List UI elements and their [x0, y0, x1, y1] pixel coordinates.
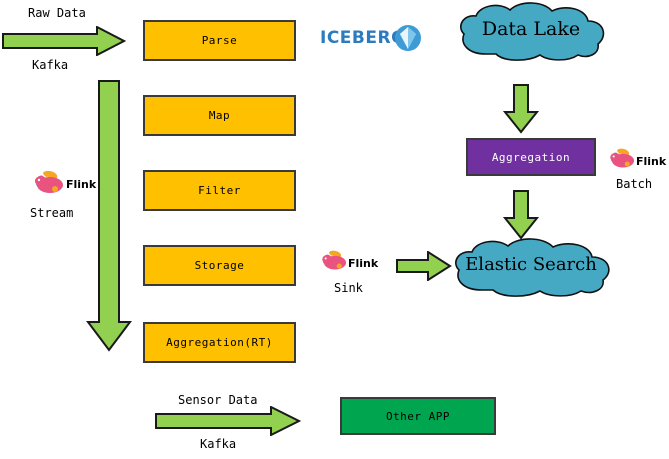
iceberg-wordmark: ICEBERG	[320, 28, 406, 48]
iceberg-globe-icon	[394, 24, 422, 52]
other-app-box[interactable]: Other APP	[340, 397, 496, 435]
flink-squirrel-icon	[30, 170, 70, 196]
process-box-aggregation-rt-label: Aggregation(RT)	[166, 336, 273, 349]
raw-data-kafka-arrow	[2, 26, 126, 56]
aggregation-box-label: Aggregation	[492, 151, 570, 164]
raw-data-label: Raw Data	[28, 6, 86, 20]
flink-stream-logo: Flink	[30, 170, 104, 196]
process-box-parse-label: Parse	[202, 34, 238, 47]
flink-squirrel-icon	[318, 248, 352, 274]
flink-squirrel-icon	[606, 146, 640, 172]
flink-sink-logo: Flink	[318, 248, 382, 274]
aggregation-box[interactable]: Aggregation	[466, 138, 596, 176]
process-box-map[interactable]: Map	[143, 95, 296, 136]
datalake-to-aggregation-arrow	[503, 84, 539, 134]
data-lake-cloud[interactable]: Data Lake	[452, 2, 610, 64]
elastic-search-label: Elastic Search	[446, 254, 616, 275]
sink-label: Sink	[334, 281, 363, 295]
batch-label: Batch	[616, 177, 652, 191]
sink-to-elasticsearch-arrow	[396, 251, 452, 281]
process-box-filter[interactable]: Filter	[143, 170, 296, 211]
aggregation-to-elasticsearch-arrow	[503, 190, 539, 240]
stream-flow-arrow	[86, 80, 132, 352]
process-box-map-label: Map	[209, 109, 230, 122]
process-box-storage-label: Storage	[195, 259, 245, 272]
flink-batch-logo: Flink	[606, 146, 669, 172]
flink-wordmark-sink: Flink	[348, 257, 378, 270]
flink-wordmark-batch: Flink	[636, 155, 666, 168]
elastic-search-cloud[interactable]: Elastic Search	[446, 238, 616, 300]
process-box-parse[interactable]: Parse	[143, 20, 296, 61]
process-box-filter-label: Filter	[198, 184, 241, 197]
kafka-ingest-label: Kafka	[32, 58, 68, 72]
other-app-box-label: Other APP	[386, 410, 450, 423]
process-box-aggregation-rt[interactable]: Aggregation(RT)	[143, 322, 296, 363]
sensor-data-label: Sensor Data	[178, 393, 257, 407]
stream-label: Stream	[30, 206, 73, 220]
diagram-canvas: Raw Data Kafka Flink Stream Pars	[0, 0, 669, 459]
sensor-data-kafka-arrow	[155, 406, 301, 436]
process-box-storage[interactable]: Storage	[143, 245, 296, 286]
flink-wordmark-stream: Flink	[66, 178, 96, 191]
data-lake-label: Data Lake	[452, 18, 610, 40]
iceberg-logo: ICEBERG	[320, 24, 420, 52]
kafka-sensor-label: Kafka	[200, 437, 236, 451]
